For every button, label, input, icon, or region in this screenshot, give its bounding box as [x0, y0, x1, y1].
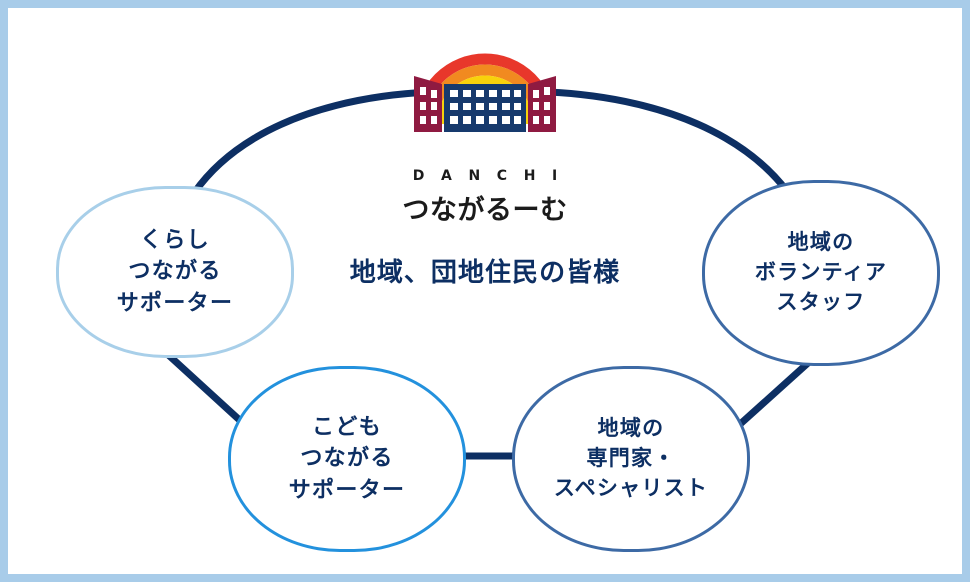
node-line: くらし	[140, 225, 210, 256]
node-line: サポーター	[289, 475, 406, 506]
node-line: つながる	[128, 256, 221, 287]
node-specialist[interactable]: 地域の 専門家・ スペシャリスト	[512, 366, 750, 552]
node-kodomo-supporter[interactable]: こども つながる サポーター	[228, 366, 466, 552]
node-line: 専門家・	[586, 444, 675, 474]
node-line: 地域の	[598, 414, 665, 444]
logo: D A N C H I つながるーむ	[398, 28, 572, 190]
node-line: サポーター	[117, 288, 234, 319]
danchi-tsunagaru-room-logo-icon	[398, 28, 572, 136]
logo-wordmark-text: つながるーむ	[398, 188, 572, 227]
node-line: スペシャリスト	[554, 474, 708, 504]
diagram-canvas: D A N C H I つながるーむ 地域、団地住民の皆様 くらし つながる サ…	[0, 0, 970, 582]
center-heading: 地域、団地住民の皆様	[270, 252, 700, 289]
node-line: スタッフ	[776, 288, 865, 318]
node-kurashi-supporter[interactable]: くらし つながる サポーター	[56, 186, 294, 358]
node-volunteer-staff[interactable]: 地域の ボランティア スタッフ	[702, 180, 940, 366]
node-line: 地域の	[788, 228, 855, 258]
node-line: つながる	[300, 443, 393, 474]
node-line: ボランティア	[755, 258, 887, 288]
node-line: こども	[312, 412, 382, 443]
logo-romaji-text: D A N C H I	[398, 168, 572, 184]
